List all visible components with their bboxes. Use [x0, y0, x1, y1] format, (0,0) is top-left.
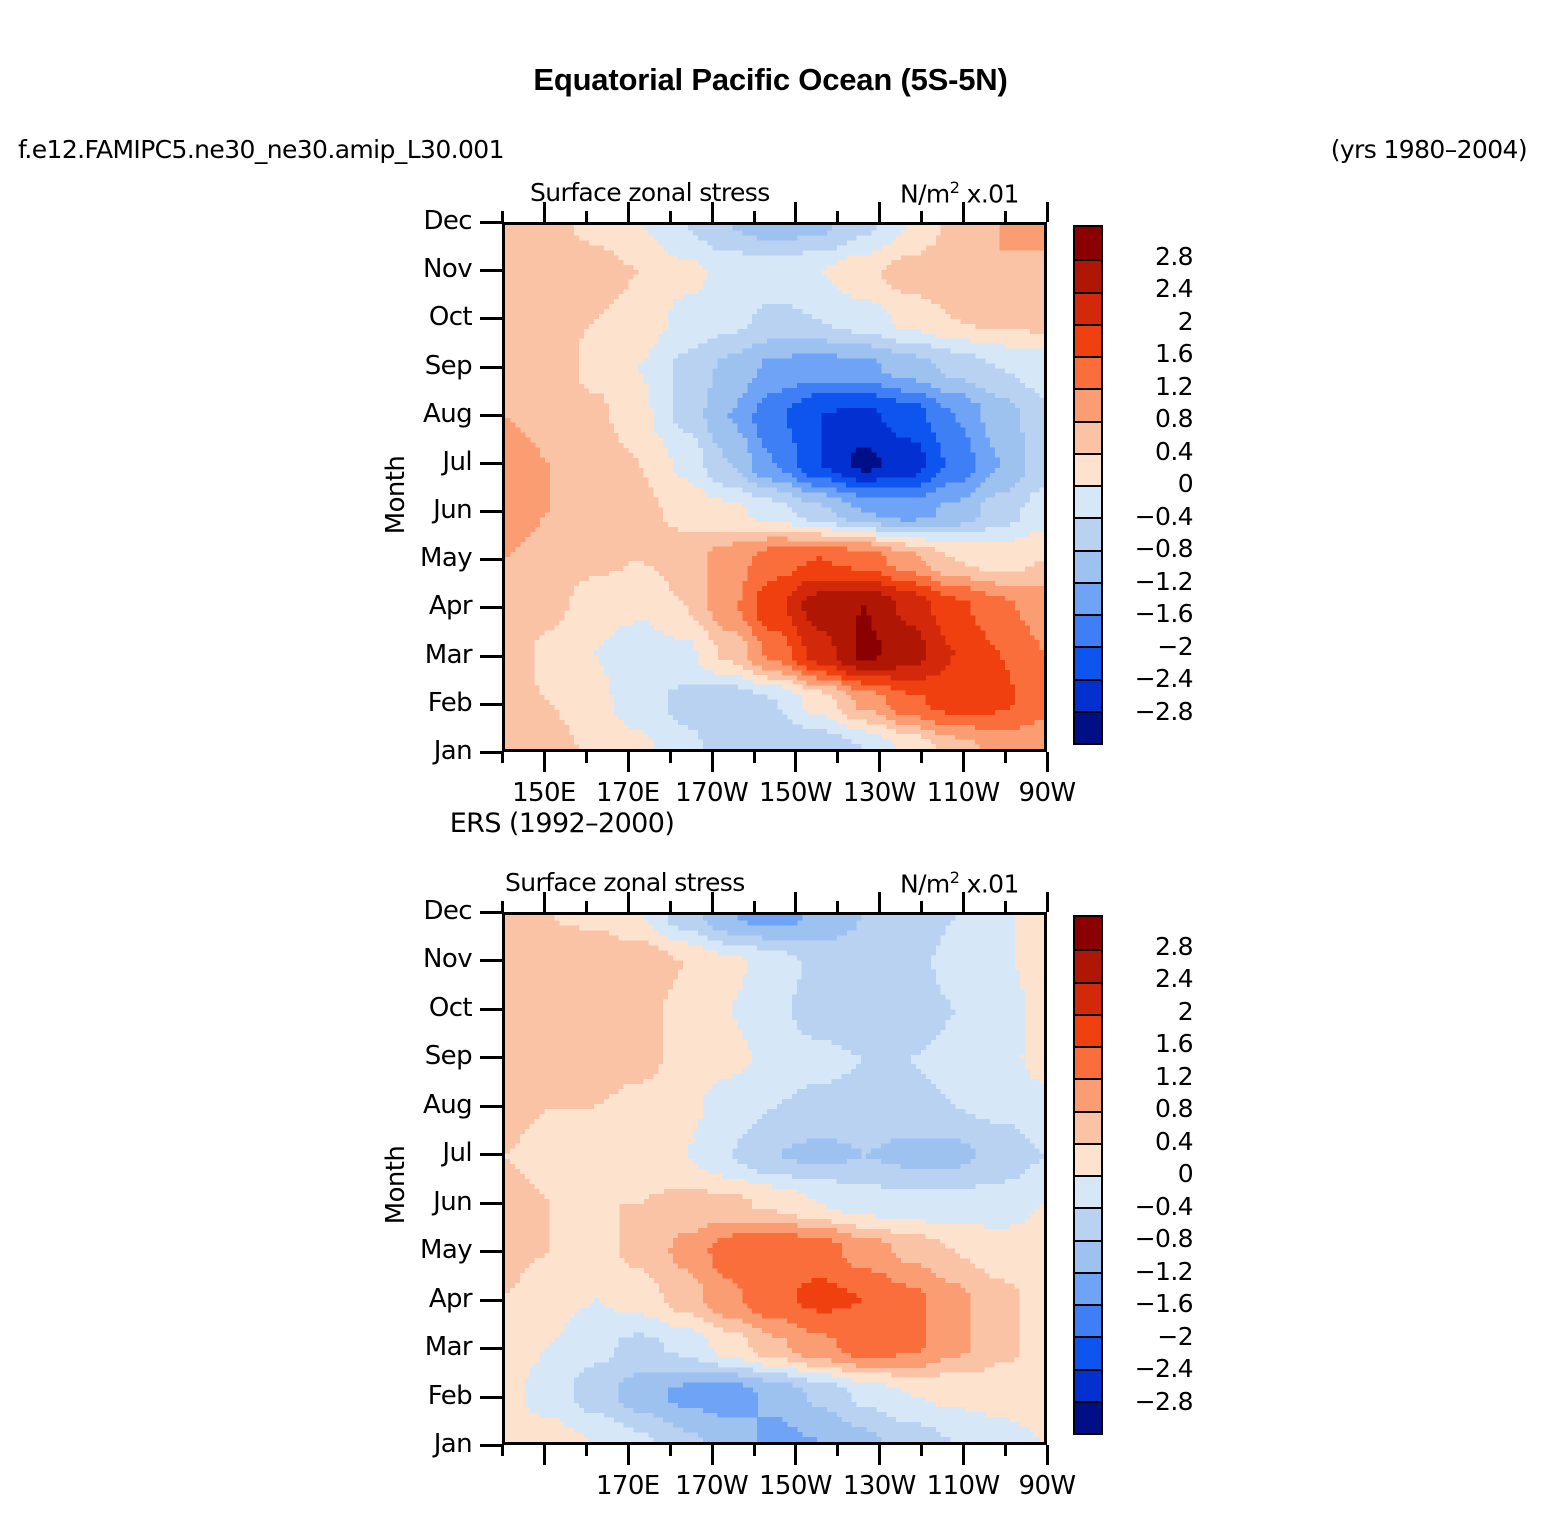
xtick-minor-top: [501, 901, 504, 912]
colorbar-band: [1075, 1046, 1101, 1078]
ytick-mark: [480, 1299, 502, 1302]
ytick-label: Feb: [362, 1383, 472, 1409]
ytick-mark: [480, 1396, 502, 1399]
colorbar-tick-label: −2.8: [1113, 697, 1193, 726]
case-name-label: f.e12.FAMIPC5.ne30_ne30.amip_L30.001: [18, 135, 504, 164]
ytick-label: Jan: [362, 1431, 472, 1457]
xtick-minor: [753, 752, 756, 763]
xtick-label: 90W: [987, 1471, 1107, 1501]
colorbar-band: [1075, 582, 1101, 614]
panel-top-variable-label: Surface zonal stress: [530, 178, 770, 207]
ytick-mark: [480, 1444, 502, 1447]
xtick-minor-top: [669, 211, 672, 222]
ytick-mark: [480, 221, 502, 224]
colorbar-band: [1075, 711, 1101, 743]
xtick-mark-top: [711, 202, 714, 222]
panel-top-plot-area: [502, 222, 1047, 752]
xtick-minor: [920, 1445, 923, 1456]
colorbar-band: [1075, 388, 1101, 420]
colorbar-tick-label: −0.8: [1113, 534, 1193, 563]
ytick-mark: [480, 1105, 502, 1108]
colorbar-tick-label: 1.6: [1113, 339, 1193, 368]
colorbar-tick-label: −2.4: [1113, 1354, 1193, 1383]
ytick-label: Oct: [362, 304, 472, 330]
ytick-label: Dec: [362, 208, 472, 234]
xtick-minor-top: [920, 211, 923, 222]
ytick-mark: [480, 317, 502, 320]
colorbar-band: [1075, 517, 1101, 549]
xtick-mark-top: [627, 202, 630, 222]
colorbar-band: [1075, 292, 1101, 324]
ytick-label: Sep: [362, 1043, 472, 1069]
xtick-minor-top: [585, 901, 588, 912]
years-range-label: (yrs 1980–2004): [1331, 135, 1527, 164]
ytick-label: Apr: [362, 593, 472, 619]
ytick-label: Dec: [362, 898, 472, 924]
ytick-label: Aug: [362, 1092, 472, 1118]
xtick-minor: [501, 1445, 504, 1456]
colorbar-tick-label: 0: [1113, 1159, 1193, 1188]
xtick-label: 90W: [987, 778, 1107, 808]
ytick-label: Mar: [362, 1334, 472, 1360]
xtick-mark: [794, 1445, 797, 1465]
colorbar-band: [1075, 227, 1101, 259]
colorbar-tick-label: 0.8: [1113, 404, 1193, 433]
ytick-label: Sep: [362, 353, 472, 379]
colorbar-tick-label: −2.8: [1113, 1387, 1193, 1416]
colorbar-tick-label: 2.8: [1113, 242, 1193, 271]
ytick-label: Jul: [362, 1140, 472, 1166]
colorbar-tick-label: −2: [1113, 1322, 1193, 1351]
colorbar-tick-label: −0.4: [1113, 1192, 1193, 1221]
colorbar-tick-label: 2.4: [1113, 274, 1193, 303]
ytick-label: Jan: [362, 738, 472, 764]
ytick-mark: [480, 911, 502, 914]
ytick-mark: [480, 1202, 502, 1205]
colorbar-tick-label: 2: [1113, 997, 1193, 1026]
ytick-label: May: [362, 545, 472, 571]
units-main: N/m: [900, 869, 950, 898]
xtick-minor-top: [669, 901, 672, 912]
xtick-minor-top: [501, 211, 504, 222]
xtick-minor: [501, 752, 504, 763]
colorbar-band: [1075, 917, 1101, 949]
xtick-mark-top: [878, 892, 881, 912]
colorbar-band: [1075, 356, 1101, 388]
xtick-minor: [1004, 752, 1007, 763]
panel-bottom-title: ERS (1992–2000): [0, 808, 1124, 839]
xtick-minor: [836, 752, 839, 763]
colorbar-band: [1075, 421, 1101, 453]
colorbar-tick-label: 0.4: [1113, 437, 1193, 466]
ytick-mark: [480, 462, 502, 465]
ytick-mark: [480, 703, 502, 706]
xtick-mark: [543, 752, 546, 772]
colorbar-band: [1075, 324, 1101, 356]
xtick-mark-top: [543, 202, 546, 222]
ytick-label: Feb: [362, 690, 472, 716]
xtick-mark-top: [1046, 892, 1049, 912]
colorbar-band: [1075, 646, 1101, 678]
xtick-minor-top: [920, 901, 923, 912]
colorbar-band: [1075, 1175, 1101, 1207]
xtick-minor: [920, 752, 923, 763]
colorbar-band: [1075, 453, 1101, 485]
xtick-minor-top: [1004, 901, 1007, 912]
colorbar-band: [1075, 1143, 1101, 1175]
colorbar-band: [1075, 949, 1101, 981]
xtick-minor: [836, 1445, 839, 1456]
xtick-mark: [627, 752, 630, 772]
xtick-minor-top: [1004, 211, 1007, 222]
xtick-mark: [794, 752, 797, 772]
colorbar-band: [1075, 550, 1101, 582]
xtick-mark-top: [794, 892, 797, 912]
colorbar-band: [1075, 485, 1101, 517]
ytick-label: Oct: [362, 995, 472, 1021]
units-tail: x.01: [959, 179, 1019, 208]
xtick-mark: [543, 1445, 546, 1465]
units-main: N/m: [900, 179, 950, 208]
colorbar-band: [1075, 1304, 1101, 1336]
colorbar-band: [1075, 1272, 1101, 1304]
xtick-minor-top: [585, 211, 588, 222]
xtick-mark: [1046, 752, 1049, 772]
ytick-mark: [480, 655, 502, 658]
colorbar-band: [1075, 614, 1101, 646]
xtick-minor-top: [836, 211, 839, 222]
ytick-mark: [480, 1056, 502, 1059]
xtick-mark: [627, 1445, 630, 1465]
colorbar-tick-label: 1.2: [1113, 372, 1193, 401]
ytick-mark: [480, 1008, 502, 1011]
figure-root: Equatorial Pacific Ocean (5S-5N) f.e12.F…: [0, 0, 1541, 1538]
panel-bottom-variable-label: Surface zonal stress: [505, 868, 745, 897]
xtick-minor-top: [753, 211, 756, 222]
ytick-label: Aug: [362, 401, 472, 427]
ytick-mark: [480, 366, 502, 369]
ytick-label: Jun: [362, 497, 472, 523]
xtick-mark-top: [878, 202, 881, 222]
colorbar-band: [1075, 1401, 1101, 1433]
xtick-minor: [669, 1445, 672, 1456]
xtick-mark: [711, 1445, 714, 1465]
colorbar-band: [1075, 1240, 1101, 1272]
units-tail: x.01: [959, 869, 1019, 898]
colorbar-tick-label: 0.8: [1113, 1094, 1193, 1123]
colorbar-band: [1075, 1336, 1101, 1368]
page-title: Equatorial Pacific Ocean (5S-5N): [0, 62, 1541, 98]
ytick-mark: [480, 269, 502, 272]
colorbar-tick-label: 2: [1113, 307, 1193, 336]
panel-bottom-contour-field: [505, 915, 1044, 1442]
ytick-mark: [480, 1347, 502, 1350]
colorbar-band: [1075, 982, 1101, 1014]
colorbar-band: [1075, 1369, 1101, 1401]
ytick-mark: [480, 1153, 502, 1156]
colorbar-tick-label: 2.8: [1113, 932, 1193, 961]
xtick-minor: [669, 752, 672, 763]
xtick-mark-top: [627, 892, 630, 912]
ytick-label: May: [362, 1237, 472, 1263]
colorbar-tick-label: −2.4: [1113, 664, 1193, 693]
xtick-mark: [878, 1445, 881, 1465]
colorbar-tick-label: 1.6: [1113, 1029, 1193, 1058]
colorbar-tick-label: −1.2: [1113, 567, 1193, 596]
colorbar-tick-label: −1.6: [1113, 1289, 1193, 1318]
xtick-mark-top: [962, 892, 965, 912]
colorbar-tick-label: 0: [1113, 469, 1193, 498]
colorbar-tick-label: −0.4: [1113, 502, 1193, 531]
units-exponent: 2: [950, 868, 960, 887]
ytick-label: Jul: [362, 449, 472, 475]
xtick-mark-top: [543, 892, 546, 912]
colorbar-tick-label: −1.6: [1113, 599, 1193, 628]
xtick-mark: [711, 752, 714, 772]
ytick-label: Jun: [362, 1189, 472, 1215]
ytick-label: Nov: [362, 946, 472, 972]
ytick-mark: [480, 414, 502, 417]
colorbar-tick-label: −1.2: [1113, 1257, 1193, 1286]
panel-top-units-label: N/m2 x.01: [900, 178, 1019, 208]
ytick-mark: [480, 959, 502, 962]
panel-top-colorbar: [1073, 225, 1103, 745]
colorbar-band: [1075, 1207, 1101, 1239]
xtick-mark: [1046, 1445, 1049, 1465]
colorbar-band: [1075, 259, 1101, 291]
xtick-minor-top: [753, 901, 756, 912]
ytick-mark: [480, 606, 502, 609]
colorbar-band: [1075, 1111, 1101, 1143]
panel-bottom-colorbar: [1073, 915, 1103, 1435]
ytick-mark: [480, 1250, 502, 1253]
colorbar-tick-label: 1.2: [1113, 1062, 1193, 1091]
ytick-label: Apr: [362, 1286, 472, 1312]
xtick-mark-top: [1046, 202, 1049, 222]
colorbar-tick-label: −0.8: [1113, 1224, 1193, 1253]
xtick-mark-top: [962, 202, 965, 222]
xtick-minor-top: [836, 901, 839, 912]
units-exponent: 2: [950, 178, 960, 197]
colorbar-band: [1075, 1014, 1101, 1046]
colorbar-band: [1075, 1078, 1101, 1110]
colorbar-tick-label: 0.4: [1113, 1127, 1193, 1156]
xtick-mark: [962, 752, 965, 772]
ytick-label: Nov: [362, 256, 472, 282]
xtick-mark-top: [711, 892, 714, 912]
xtick-minor: [585, 1445, 588, 1456]
colorbar-band: [1075, 679, 1101, 711]
colorbar-tick-label: −2: [1113, 632, 1193, 661]
panel-bottom-plot-area: [502, 912, 1047, 1445]
colorbar-tick-label: 2.4: [1113, 964, 1193, 993]
xtick-mark: [878, 752, 881, 772]
xtick-minor: [753, 1445, 756, 1456]
xtick-minor: [1004, 1445, 1007, 1456]
xtick-minor: [585, 752, 588, 763]
xtick-mark-top: [794, 202, 797, 222]
panel-bottom-units-label: N/m2 x.01: [900, 868, 1019, 898]
panel-top-contour-field: [505, 225, 1044, 749]
ytick-mark: [480, 510, 502, 513]
ytick-mark: [480, 558, 502, 561]
ytick-label: Mar: [362, 642, 472, 668]
ytick-mark: [480, 751, 502, 754]
xtick-mark: [962, 1445, 965, 1465]
